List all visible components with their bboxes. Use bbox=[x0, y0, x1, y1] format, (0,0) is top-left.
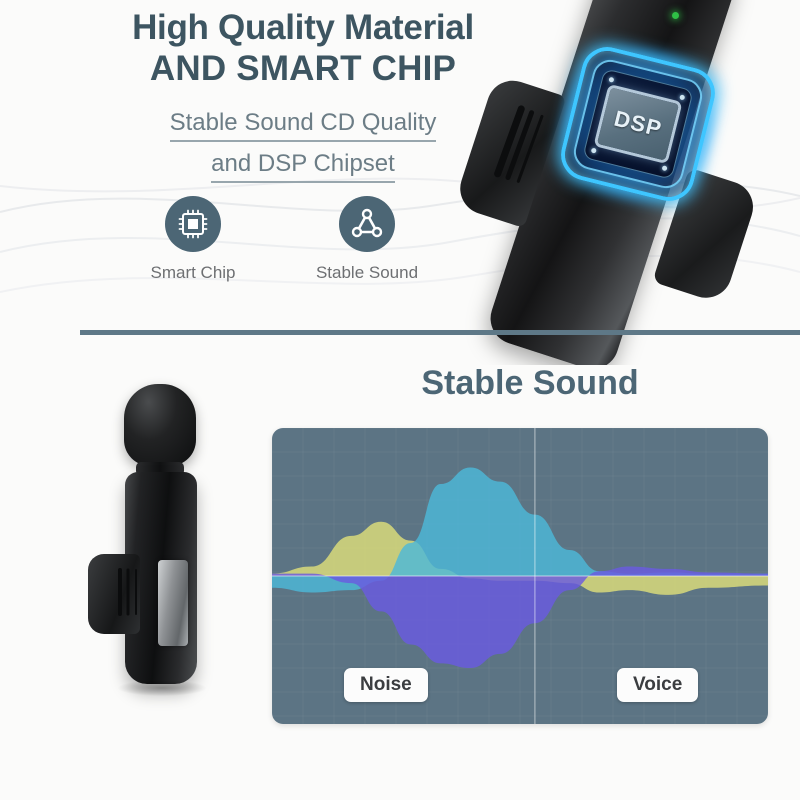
waveform-chart: Noise Voice bbox=[272, 428, 768, 724]
feature-list: Smart Chip Stable Sound bbox=[130, 196, 430, 283]
dsp-pin bbox=[591, 148, 597, 154]
triangle-nodes-icon bbox=[339, 196, 395, 252]
product-photo-lavalier-mic bbox=[78, 368, 268, 768]
dsp-pin bbox=[608, 77, 614, 83]
dsp-pin bbox=[662, 165, 668, 171]
section-divider bbox=[80, 330, 800, 335]
product-shadow bbox=[118, 680, 206, 696]
status-badge-noise: Noise bbox=[344, 668, 428, 702]
microchip-icon bbox=[165, 196, 221, 252]
subtitle-line-2: and DSP Chipset bbox=[211, 147, 395, 183]
microchip-glyph bbox=[176, 207, 210, 241]
feature-label: Stable Sound bbox=[316, 263, 418, 283]
product-photo-dsp-mic: DSP bbox=[455, 0, 800, 365]
headline-line-2: AND SMART CHIP bbox=[88, 51, 518, 88]
subtitle-line-1: Stable Sound CD Quality bbox=[170, 106, 437, 142]
dsp-label: DSP bbox=[611, 106, 664, 143]
mic-capsule-head bbox=[124, 384, 196, 466]
subtitle: Stable Sound CD Quality and DSP Chipset bbox=[88, 106, 518, 183]
mic-clip bbox=[88, 554, 140, 634]
upper-section: DSP High Quality Material AND SMART CHIP… bbox=[0, 0, 800, 332]
lower-section: Stable Sound Noise Voice bbox=[0, 336, 800, 800]
feature-stable-sound: Stable Sound bbox=[304, 196, 430, 283]
headline-line-1: High Quality Material bbox=[88, 10, 518, 47]
clip-groove bbox=[493, 104, 526, 178]
led-indicator-icon bbox=[672, 12, 679, 19]
status-badge-voice: Voice bbox=[617, 668, 698, 702]
triangle-nodes-glyph bbox=[350, 207, 384, 241]
section-title: Stable Sound bbox=[300, 364, 760, 403]
clip-grooves bbox=[118, 568, 122, 616]
feature-label: Smart Chip bbox=[150, 263, 235, 283]
product-infographic: DSP High Quality Material AND SMART CHIP… bbox=[0, 0, 800, 800]
page-title: High Quality Material AND SMART CHIP bbox=[88, 10, 518, 88]
feature-smart-chip: Smart Chip bbox=[130, 196, 256, 283]
dsp-pin bbox=[679, 94, 685, 100]
mic-metal-strip bbox=[158, 560, 188, 646]
